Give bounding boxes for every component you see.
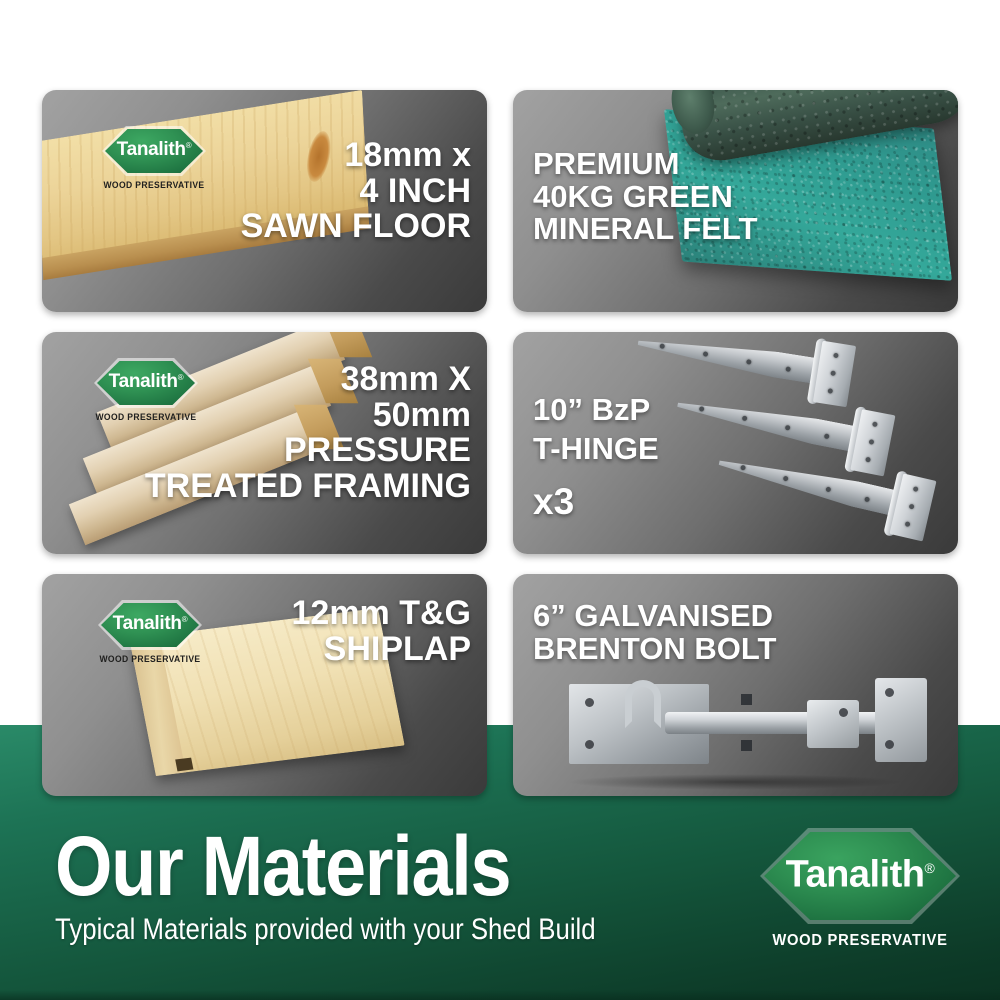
card-line-1: PREMIUM xyxy=(533,148,757,181)
card-line-3: MINERAL FELT xyxy=(533,213,757,246)
card-line-1: 10” BzP xyxy=(533,394,659,427)
badge-wordmark-text: Tanalith xyxy=(109,371,178,392)
card-row: Tanalith® WOOD PRESERVATIVE 12mm T&G SHI… xyxy=(42,574,958,796)
material-card-shiplap[interactable]: Tanalith® WOOD PRESERVATIVE 12mm T&G SHI… xyxy=(42,574,487,796)
bolt-square-hole xyxy=(741,740,752,751)
card-line-1: 6” GALVANISED xyxy=(533,600,776,633)
hinge-screw-hole xyxy=(659,343,665,349)
beam-end-grain xyxy=(322,332,372,357)
hinge-screw-hole xyxy=(703,351,709,357)
materials-infographic: Our Materials Typical Materials provided… xyxy=(0,0,1000,1000)
tanalith-badge: Tanalith® WOOD PRESERVATIVE xyxy=(90,358,202,422)
card-label-brenton-bolt: 6” GALVANISED BRENTON BOLT xyxy=(533,600,776,665)
logo-wordmark: Tanalith® xyxy=(760,854,960,897)
hinge-screw-hole xyxy=(913,486,919,492)
material-card-sawn-floor[interactable]: Tanalith® WOOD PRESERVATIVE 18mm x 4 INC… xyxy=(42,90,487,312)
badge-tagline: WOOD PRESERVATIVE xyxy=(101,180,207,190)
hinge-strap xyxy=(636,332,828,385)
card-line-3: PRESSURE xyxy=(145,433,471,469)
badge-hexagon-icon: Tanalith® xyxy=(98,600,202,650)
bolt-screw-hole xyxy=(839,708,848,717)
hinge-screw-hole xyxy=(785,366,791,372)
card-line-3: x3 xyxy=(533,483,659,522)
badge-registered-icon: ® xyxy=(186,141,192,150)
hinge-screw-hole xyxy=(824,433,830,439)
badge-wordmark: Tanalith® xyxy=(102,139,206,161)
bolt-keeper xyxy=(875,678,927,762)
card-line-3: SAWN FLOOR xyxy=(241,209,471,245)
tanalith-badge: Tanalith® WOOD PRESERVATIVE xyxy=(98,126,210,190)
hinge-screw-hole xyxy=(830,370,836,376)
hinge-screw-hole xyxy=(905,521,911,527)
bolt-screw-hole xyxy=(885,740,894,749)
bolt-barrel xyxy=(665,712,895,734)
bolt-drop-shadow xyxy=(566,774,904,790)
card-line-2: 40KG GREEN xyxy=(533,181,757,214)
card-label-t-hinge: 10” BzP T-HINGE x3 xyxy=(533,394,659,522)
registered-trademark-icon: ® xyxy=(925,860,935,876)
material-card-t-hinge[interactable]: 10” BzP T-HINGE x3 xyxy=(513,332,958,554)
hinge-screw-hole xyxy=(785,425,791,431)
page-title: Our Materials xyxy=(55,828,662,905)
material-card-mineral-felt[interactable]: PREMIUM 40KG GREEN MINERAL FELT xyxy=(513,90,958,312)
bolt-padlock-loop xyxy=(625,680,661,728)
tanalith-badge: Tanalith® WOOD PRESERVATIVE xyxy=(94,600,206,664)
card-line-2: 4 INCH xyxy=(241,174,471,210)
hinge-screw-hole xyxy=(872,421,878,427)
materials-card-grid: Tanalith® WOOD PRESERVATIVE 18mm x 4 INC… xyxy=(42,90,958,796)
t-hinge-image xyxy=(636,332,958,554)
badge-tagline: WOOD PRESERVATIVE xyxy=(93,412,199,422)
hinge-screw-hole xyxy=(869,439,875,445)
bolt-screw-hole xyxy=(585,740,594,749)
card-line-1: 18mm x xyxy=(241,138,471,174)
badge-wordmark: Tanalith® xyxy=(98,613,202,635)
footer-text-block: Our Materials Typical Materials provided… xyxy=(55,828,745,947)
hinge-screw-hole xyxy=(740,465,746,471)
badge-wordmark: Tanalith® xyxy=(94,371,198,393)
hinge-screw-hole xyxy=(833,353,839,359)
hinge-screw-hole xyxy=(909,504,915,510)
material-card-brenton-bolt[interactable]: 6” GALVANISED BRENTON BOLT xyxy=(513,574,958,796)
hexagon-badge-icon: Tanalith® xyxy=(760,828,960,924)
tanalith-brand-logo: Tanalith® WOOD PRESERVATIVE xyxy=(755,828,965,950)
shiplap-groove xyxy=(175,758,193,772)
badge-hexagon-icon: Tanalith® xyxy=(94,358,198,408)
bolt-collar xyxy=(807,700,859,748)
hinge-screw-hole xyxy=(827,388,833,394)
bolt-square-hole xyxy=(741,694,752,705)
hinge-screw-hole xyxy=(783,476,789,482)
card-line-2: SHIPLAP xyxy=(292,632,472,668)
brenton-bolt-image xyxy=(569,670,929,780)
bolt-screw-hole xyxy=(585,698,594,707)
page-subtitle: Typical Materials provided with your She… xyxy=(55,913,648,947)
logo-wordmark-text: Tanalith xyxy=(786,854,925,896)
card-label-shiplap: 12mm T&G SHIPLAP xyxy=(292,596,472,667)
hinge-screw-hole xyxy=(742,415,748,421)
badge-tagline: WOOD PRESERVATIVE xyxy=(97,654,203,664)
card-line-1: 12mm T&G xyxy=(292,596,472,632)
bolt-screw-hole xyxy=(885,688,894,697)
hinge-screw-hole xyxy=(699,406,705,412)
badge-wordmark-text: Tanalith xyxy=(117,139,186,160)
card-row: Tanalith® WOOD PRESERVATIVE 38mm X 50mm … xyxy=(42,332,958,554)
card-line-2: BRENTON BOLT xyxy=(533,633,776,666)
hinge-screw-hole xyxy=(865,457,871,463)
badge-registered-icon: ® xyxy=(182,615,188,624)
hinge-screw-hole xyxy=(746,359,752,365)
card-label-sawn-floor: 18mm x 4 INCH SAWN FLOOR xyxy=(241,138,471,245)
material-card-pressure-treated-framing[interactable]: Tanalith® WOOD PRESERVATIVE 38mm X 50mm … xyxy=(42,332,487,554)
card-line-2: T-HINGE xyxy=(533,433,659,466)
badge-registered-icon: ® xyxy=(178,373,184,382)
card-row: Tanalith® WOOD PRESERVATIVE 18mm x 4 INC… xyxy=(42,90,958,312)
logo-tagline: WOOD PRESERVATIVE xyxy=(763,932,956,950)
hinge-screw-hole xyxy=(864,496,870,502)
card-line-4: TREATED FRAMING xyxy=(145,469,471,505)
badge-hexagon-icon: Tanalith® xyxy=(102,126,206,176)
card-label-mineral-felt: PREMIUM 40KG GREEN MINERAL FELT xyxy=(533,148,757,246)
hinge-screw-hole xyxy=(825,486,831,492)
badge-wordmark-text: Tanalith xyxy=(113,613,182,634)
